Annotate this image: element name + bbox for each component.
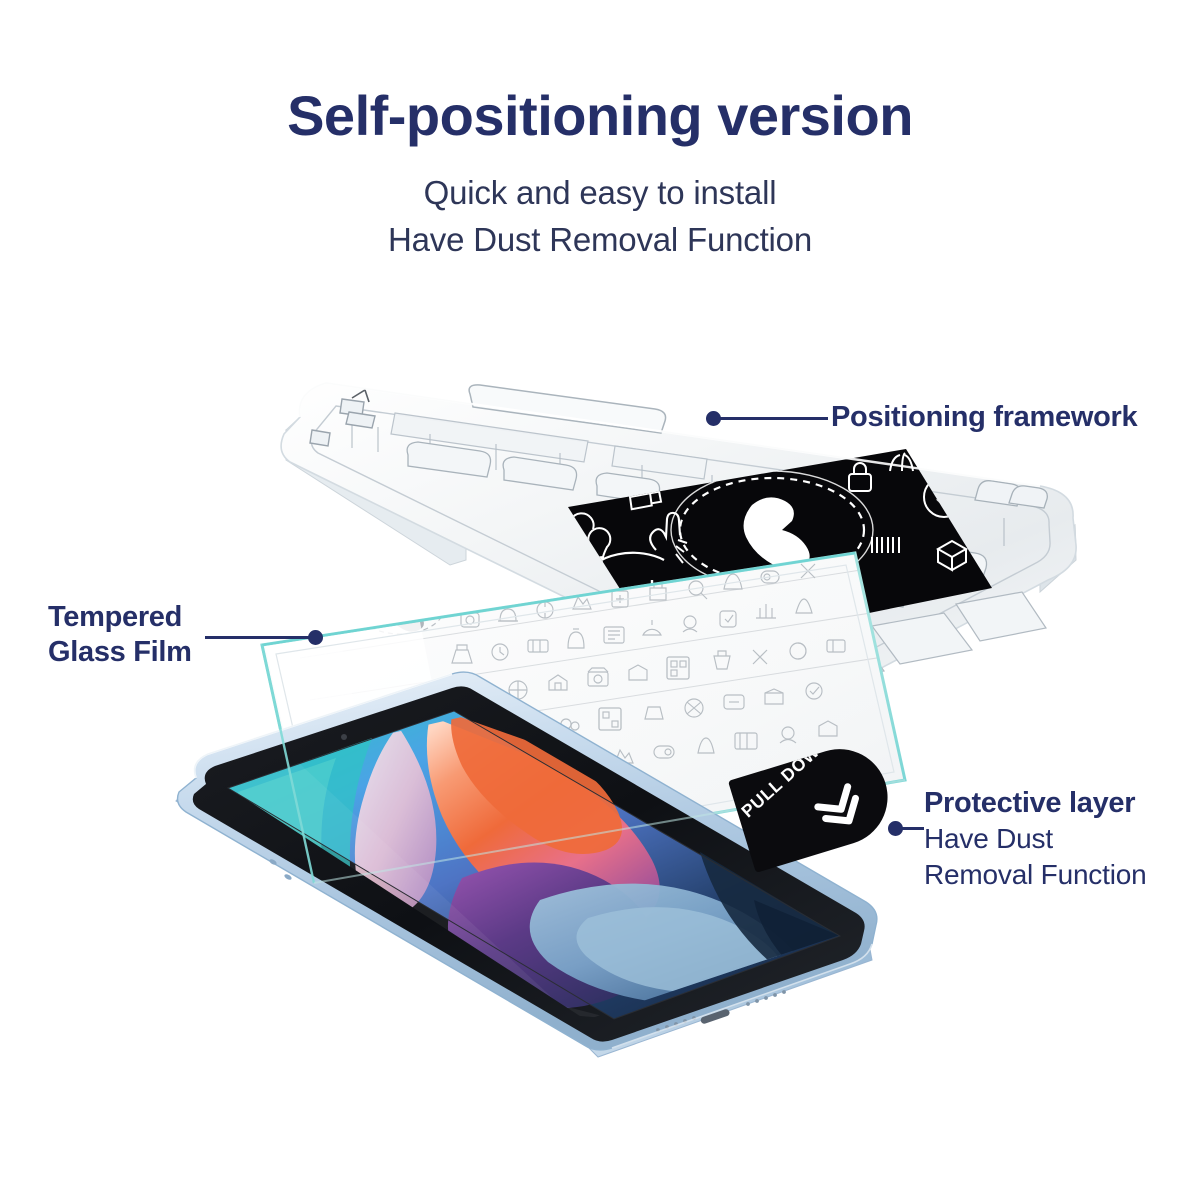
- callout-positioning-framework: Positioning framework: [831, 400, 1137, 435]
- subtitle-line-2: Have Dust Removal Function: [0, 217, 1200, 264]
- usb-c-port-icon: [700, 1008, 731, 1024]
- callout-tempered-glass-film: Tempered Glass Film: [48, 600, 192, 671]
- double-chevron-down-icon: [812, 781, 870, 837]
- page-title: Self-positioning version: [0, 88, 1200, 144]
- product-infographic: Self-positioning version Quick and easy …: [0, 0, 1200, 1200]
- pull-down-tab[interactable]: PULL DOWN: [728, 737, 900, 873]
- subtitle-block: Quick and easy to install Have Dust Remo…: [0, 170, 1200, 264]
- front-camera-icon: [341, 734, 347, 740]
- callout-protective-sub-line-1: Have Dust: [924, 821, 1146, 857]
- speaker-grille-icon: [656, 990, 786, 1032]
- leader-dot-framework: [706, 411, 721, 426]
- frame-label-area: [568, 449, 992, 655]
- leader-line-glass: [205, 636, 313, 639]
- subtitle-line-1: Quick and easy to install: [0, 170, 1200, 217]
- callout-glass-label-line-1: Tempered: [48, 600, 192, 635]
- volume-buttons-icon: [268, 858, 292, 881]
- callout-framework-label: Positioning framework: [831, 400, 1137, 435]
- tablet-screen: [228, 711, 840, 1019]
- callout-protective-label: Protective layer: [924, 786, 1146, 821]
- callout-protective-layer: Protective layer Have Dust Removal Funct…: [924, 786, 1146, 893]
- callout-protective-sub-line-2: Removal Function: [924, 857, 1146, 893]
- leader-dot-protective: [888, 821, 903, 836]
- leader-line-framework: [718, 417, 828, 420]
- header: Self-positioning version Quick and easy …: [0, 0, 1200, 264]
- callout-glass-label-line-2: Glass Film: [48, 635, 192, 670]
- leader-dot-glass: [308, 630, 323, 645]
